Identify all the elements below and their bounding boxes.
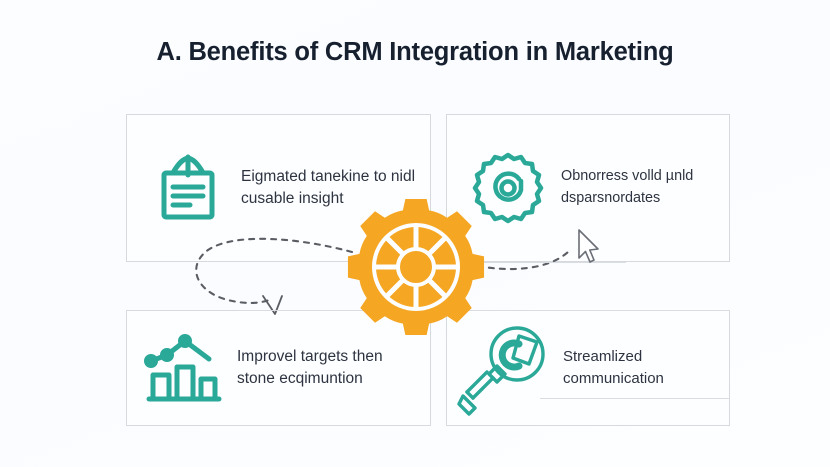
benefit-text-bottom-right: Streamlized communication — [563, 346, 729, 390]
center-gear — [345, 196, 487, 338]
benefit-text-bottom-left: Improvel targets then stone ecqimuntion — [237, 346, 430, 390]
page-title: A. Benefits of CRM Integration in Market… — [0, 38, 830, 67]
divider-line-bottom-right — [470, 310, 730, 311]
benefit-text-top-right: Obnorress volld µnld dsparsnordates — [561, 166, 729, 209]
divider-line-br-inner — [540, 398, 730, 399]
gear-icon — [345, 196, 487, 338]
bar-chart-trend-icon — [141, 325, 227, 411]
document-upload-icon — [149, 149, 227, 227]
infographic-canvas: A. Benefits of CRM Integration in Market… — [0, 0, 830, 467]
mouse-cursor-icon — [575, 228, 601, 268]
benefit-card-bottom-right[interactable]: Streamlized communication — [446, 310, 730, 426]
